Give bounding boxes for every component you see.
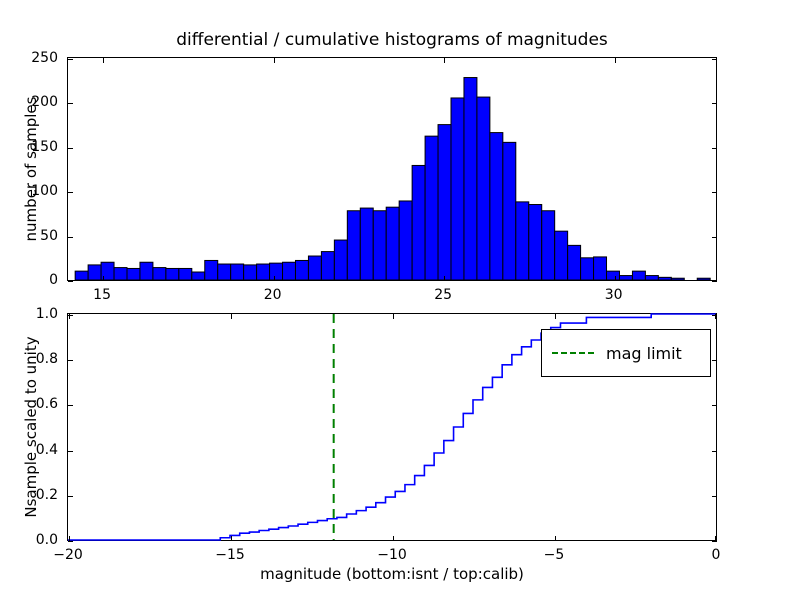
- histogram-bar: [140, 262, 153, 280]
- histogram-bar: [658, 277, 671, 280]
- tick-mark: [68, 541, 73, 542]
- histogram-bar: [179, 268, 192, 280]
- top-panel-x-tick-label: 15: [93, 287, 111, 303]
- tick-mark: [68, 281, 73, 282]
- bottom-panel-y-tick-label: 0.2: [0, 487, 58, 503]
- tick-mark: [103, 276, 104, 281]
- top-panel-y-tick-label: 150: [0, 139, 58, 155]
- bottom-panel-x-tick-label: −20: [53, 547, 83, 563]
- tick-mark: [68, 496, 73, 497]
- tick-mark: [712, 451, 717, 452]
- histogram-bar: [412, 165, 425, 280]
- bottom-panel-y-tick-label: 0.4: [0, 442, 58, 458]
- histogram-bar: [321, 252, 334, 280]
- histogram-bar: [477, 97, 490, 280]
- top-panel-y-axis-label: number of samples: [22, 57, 40, 281]
- tick-mark: [555, 314, 556, 319]
- histogram-bar: [529, 205, 542, 280]
- legend-box: mag limit: [541, 329, 711, 377]
- tick-mark: [444, 276, 445, 281]
- histogram-bar: [75, 271, 88, 280]
- bottom-panel-x-axis-label: magnitude (bottom:isnt / top:calib): [67, 565, 717, 583]
- histogram-bar: [334, 240, 347, 280]
- bottom-panel-y-tick-label: 1.0: [0, 306, 58, 322]
- tick-mark: [68, 148, 73, 149]
- bottom-panel-plot-area: mag limit: [67, 313, 717, 541]
- tick-mark: [715, 314, 716, 319]
- top-panel-plot-area: [67, 57, 717, 281]
- histogram-bar: [503, 142, 516, 280]
- histogram-bar: [231, 264, 244, 280]
- top-panel-y-tick-label: 0: [0, 272, 58, 288]
- histogram-bar: [114, 268, 127, 280]
- histogram-bar: [347, 211, 360, 280]
- tick-mark: [274, 58, 275, 63]
- histogram-bar: [671, 278, 684, 280]
- bottom-panel-y-tick-label: 0.8: [0, 351, 58, 367]
- histogram-bar: [451, 98, 464, 280]
- tick-mark: [712, 496, 717, 497]
- histogram-bar: [490, 133, 503, 280]
- histogram-bar: [308, 256, 321, 280]
- tick-mark: [231, 314, 232, 319]
- histogram-bar: [568, 245, 581, 280]
- histogram-bar: [645, 276, 658, 280]
- tick-mark: [68, 405, 73, 406]
- bottom-panel-x-tick-label: −5: [544, 547, 565, 563]
- histogram-bar: [283, 262, 296, 280]
- histogram-bar: [438, 125, 451, 280]
- top-panel-x-tick-label: 20: [264, 287, 282, 303]
- tick-mark: [615, 276, 616, 281]
- top-panel-y-tick-label: 50: [0, 228, 58, 244]
- histogram-bar: [153, 268, 166, 280]
- histogram-bar: [373, 211, 386, 280]
- tick-mark: [69, 314, 70, 319]
- tick-mark: [715, 536, 716, 541]
- histogram-bar: [295, 260, 308, 280]
- bottom-panel-x-tick-label: 0: [712, 547, 721, 563]
- page-title: differential / cumulative histograms of …: [67, 30, 717, 50]
- tick-mark: [712, 192, 717, 193]
- histogram-svg: [68, 58, 716, 280]
- tick-mark: [103, 58, 104, 63]
- tick-mark: [712, 237, 717, 238]
- histogram-bar: [166, 268, 179, 280]
- bottom-panel-y-tick-label: 0.0: [0, 532, 58, 548]
- histogram-bar: [205, 260, 218, 280]
- tick-mark: [68, 59, 73, 60]
- top-panel-x-tick-label: 30: [605, 287, 623, 303]
- bottom-panel-y-axis-label: Nsample scaled to unity: [22, 313, 40, 541]
- tick-mark: [68, 360, 73, 361]
- histogram-bar: [542, 211, 555, 280]
- histogram-bar: [257, 264, 270, 280]
- histogram-bar: [386, 207, 399, 280]
- histogram-bar: [270, 263, 283, 280]
- tick-mark: [712, 541, 717, 542]
- histogram-bar: [619, 276, 632, 280]
- tick-mark: [712, 281, 717, 282]
- histogram-bar: [399, 201, 412, 280]
- histogram-bar: [697, 278, 710, 280]
- histogram-bar: [88, 265, 101, 280]
- tick-mark: [231, 536, 232, 541]
- tick-mark: [712, 59, 717, 60]
- histogram-bar: [360, 208, 373, 280]
- tick-mark: [274, 276, 275, 281]
- tick-mark: [615, 58, 616, 63]
- bottom-panel-y-tick-label: 0.6: [0, 396, 58, 412]
- tick-mark: [68, 103, 73, 104]
- tick-mark: [393, 536, 394, 541]
- tick-mark: [444, 58, 445, 63]
- tick-mark: [69, 536, 70, 541]
- bottom-panel-x-tick-label: −10: [377, 547, 407, 563]
- histogram-bar: [464, 78, 477, 280]
- figure-canvas: differential / cumulative histograms of …: [0, 0, 800, 600]
- tick-mark: [68, 451, 73, 452]
- histogram-bar: [555, 231, 568, 280]
- tick-mark: [68, 237, 73, 238]
- tick-mark: [712, 405, 717, 406]
- histogram-bar: [632, 271, 645, 280]
- top-panel-y-tick-label: 250: [0, 50, 58, 66]
- tick-mark: [712, 148, 717, 149]
- histogram-bar: [594, 257, 607, 280]
- bottom-panel-x-tick-label: −15: [215, 547, 245, 563]
- histogram-bar: [425, 136, 438, 280]
- tick-mark: [393, 314, 394, 319]
- histogram-bar: [607, 271, 620, 280]
- tick-mark: [712, 360, 717, 361]
- mag-limit-line-swatch: [552, 352, 594, 354]
- top-panel-y-tick-label: 200: [0, 94, 58, 110]
- histogram-bar: [127, 268, 140, 280]
- top-panel-x-tick-label: 25: [434, 287, 452, 303]
- legend-entry-mag-limit: mag limit: [606, 344, 682, 363]
- histogram-bar: [581, 258, 594, 280]
- tick-mark: [712, 103, 717, 104]
- histogram-bar: [218, 264, 231, 280]
- histogram-bar: [192, 272, 205, 280]
- histogram-bar: [516, 202, 529, 280]
- tick-mark: [555, 536, 556, 541]
- histogram-bar: [244, 265, 257, 280]
- tick-mark: [68, 192, 73, 193]
- top-panel-y-tick-label: 100: [0, 183, 58, 199]
